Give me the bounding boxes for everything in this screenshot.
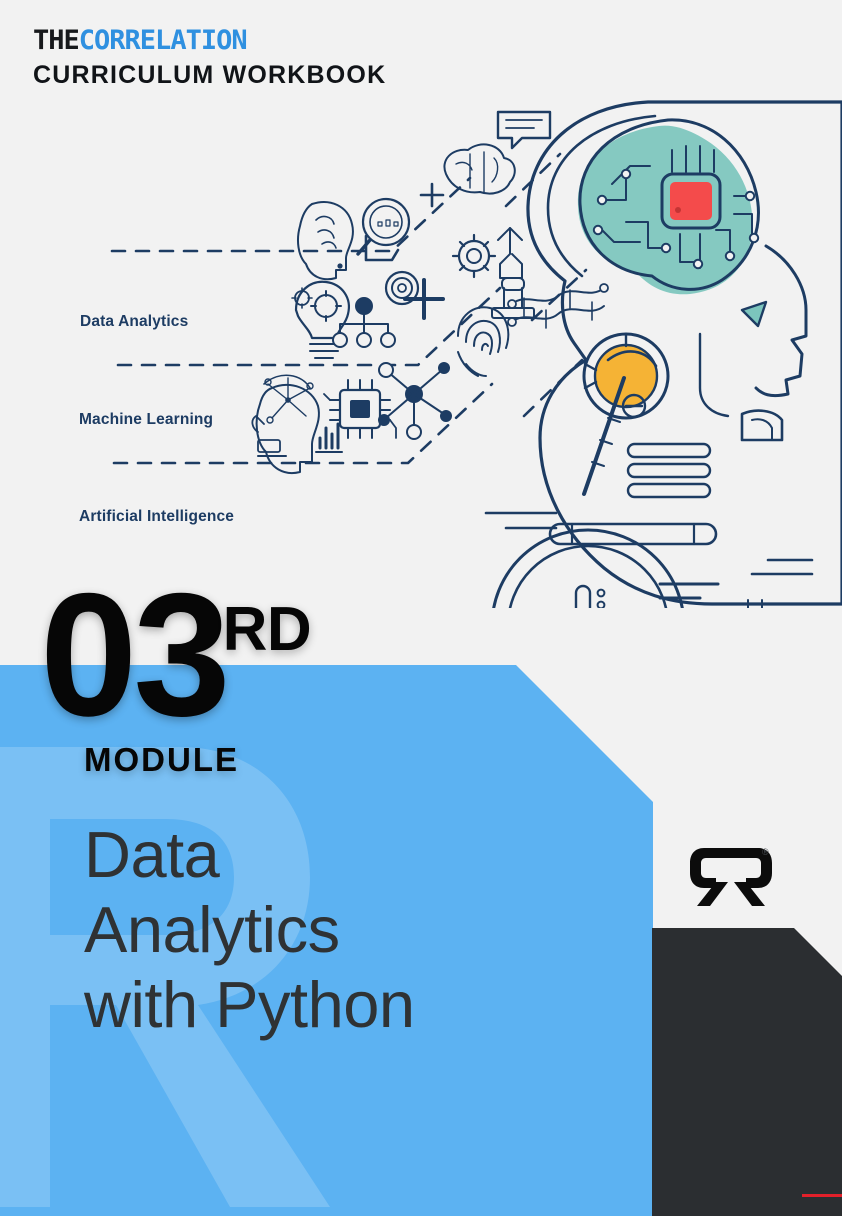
brand-logo-correlation: CORRELATION xyxy=(79,25,247,56)
head-brain-icon xyxy=(298,202,353,279)
red-accent-line xyxy=(802,1194,842,1197)
target-rings-icon xyxy=(386,272,418,304)
gear-icon xyxy=(453,235,495,277)
module-ordinal-suffix: RD xyxy=(223,599,312,661)
hero-illustration: Data Analytics Machine Learning Artifici… xyxy=(0,88,842,608)
module-number: 03 xyxy=(40,575,227,736)
dark-corner-block xyxy=(652,928,842,1216)
stage-label-data-analytics: Data Analytics xyxy=(80,313,188,331)
brain-icon xyxy=(444,144,514,193)
module-number-row: 03 RD xyxy=(0,575,420,735)
bar-chart-icon xyxy=(316,424,342,452)
brand-logo: THECORRELATION xyxy=(33,27,386,54)
workbook-cover-page: THECORRELATION CURRICULUM WORKBOOK xyxy=(0,0,842,1216)
stage-label-artificial-intelligence: Artificial Intelligence xyxy=(79,508,234,526)
module-number-block: 03 RD MODULE xyxy=(0,575,420,779)
microchip-icon xyxy=(324,380,396,438)
brand-logo-the: THE xyxy=(33,25,79,56)
hierarchy-tree-icon xyxy=(333,298,395,347)
course-title-line-3: with Python xyxy=(84,968,415,1043)
course-title-line-1: Data xyxy=(84,818,415,893)
stage-label-machine-learning: Machine Learning xyxy=(79,411,213,429)
brand-header: THECORRELATION CURRICULUM WORKBOOK xyxy=(33,27,386,88)
registered-trademark-symbol: ® xyxy=(762,847,769,857)
course-title-line-2: Analytics xyxy=(84,893,415,968)
ai-head-icon xyxy=(252,375,319,473)
brand-subtitle: CURRICULUM WORKBOOK xyxy=(33,63,386,88)
plus-large-icon xyxy=(405,280,443,318)
course-title: Data Analytics with Python xyxy=(84,818,415,1042)
plus-icon xyxy=(421,184,443,206)
